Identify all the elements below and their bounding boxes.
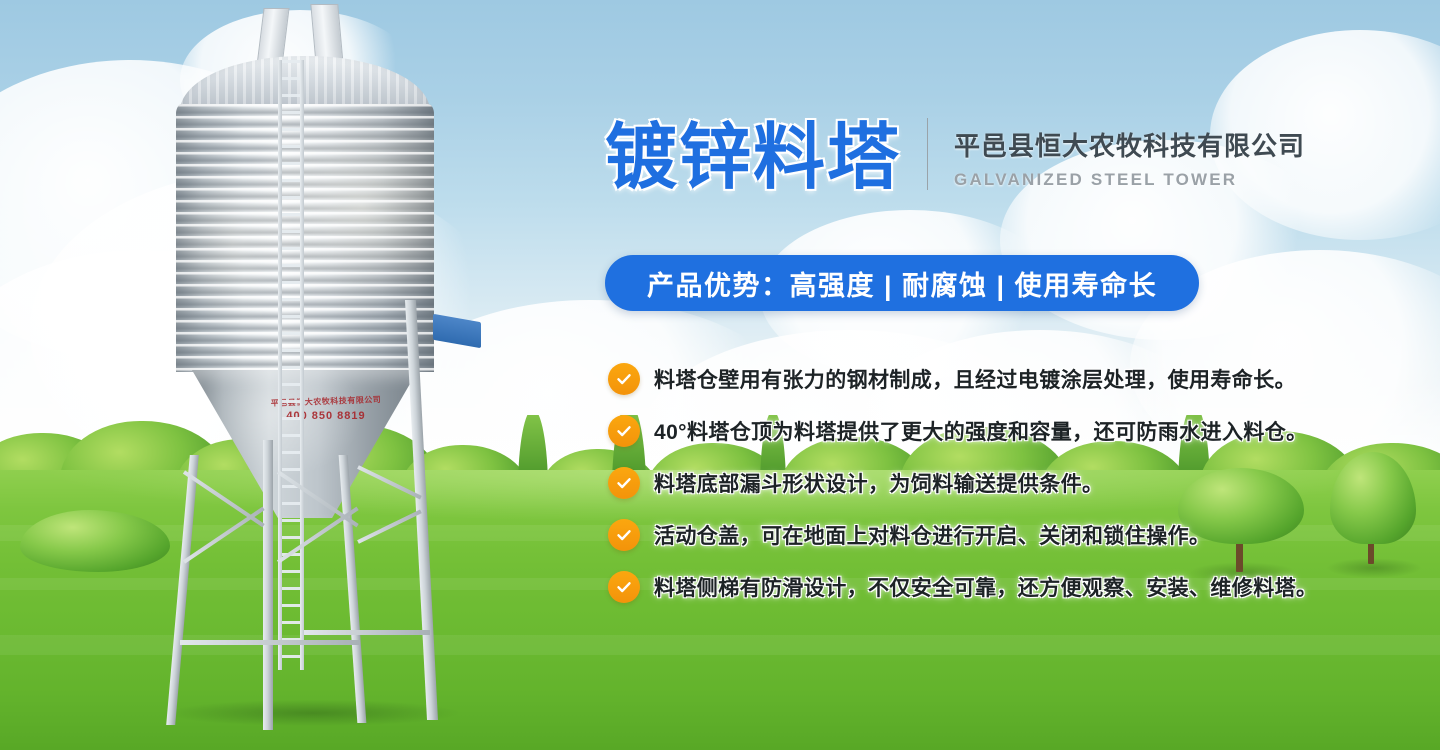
feature-text: 活动仓盖，可在地面上对料仓进行开启、关闭和锁住操作。 bbox=[654, 520, 1210, 550]
feature-list: 料塔仓壁用有张力的钢材制成，且经过电镀涂层处理，使用寿命长。 40°料塔仓顶为料… bbox=[608, 362, 1317, 622]
check-circle-icon bbox=[608, 363, 640, 395]
feature-text: 料塔侧梯有防滑设计，不仅安全可靠，还方便观察、安装、维修料塔。 bbox=[654, 572, 1317, 602]
feature-text: 40°料塔仓顶为料塔提供了更大的强度和容量，还可防雨水进入料仓。 bbox=[654, 416, 1308, 446]
check-circle-icon bbox=[608, 415, 640, 447]
check-circle-icon bbox=[608, 571, 640, 603]
list-item: 活动仓盖，可在地面上对料仓进行开启、关闭和锁住操作。 bbox=[608, 518, 1317, 551]
company-subtitle-en: GALVANIZED STEEL TOWER bbox=[954, 170, 1305, 190]
company-name: 平邑县恒大农牧科技有限公司 bbox=[954, 131, 1305, 162]
list-item: 料塔底部漏斗形状设计，为饲料输送提供条件。 bbox=[608, 466, 1317, 499]
headline-row: 镀锌料塔 平邑县恒大农牧科技有限公司 GALVANIZED STEEL TOWE… bbox=[605, 118, 1305, 194]
feature-text: 料塔底部漏斗形状设计，为饲料输送提供条件。 bbox=[654, 468, 1103, 498]
list-item: 40°料塔仓顶为料塔提供了更大的强度和容量，还可防雨水进入料仓。 bbox=[608, 414, 1317, 447]
advantage-banner-text: 产品优势：高强度 | 耐腐蚀 | 使用寿命长 bbox=[647, 264, 1157, 303]
advantage-banner: 产品优势：高强度 | 耐腐蚀 | 使用寿命长 bbox=[605, 255, 1199, 311]
list-item: 料塔侧梯有防滑设计，不仅安全可靠，还方便观察、安装、维修料塔。 bbox=[608, 570, 1317, 603]
list-item: 料塔仓壁用有张力的钢材制成，且经过电镀涂层处理，使用寿命长。 bbox=[608, 362, 1317, 395]
check-circle-icon bbox=[608, 519, 640, 551]
company-block: 平邑县恒大农牧科技有限公司 GALVANIZED STEEL TOWER bbox=[954, 131, 1305, 194]
title-divider bbox=[927, 118, 928, 190]
page-title: 镀锌料塔 bbox=[605, 122, 901, 194]
check-circle-icon bbox=[608, 467, 640, 499]
promo-banner: 平邑县恒大农牧科技有限公司 400 850 8819 镀锌料塔 平邑县恒大农牧科… bbox=[0, 0, 1440, 750]
banner-content: 镀锌料塔 平邑县恒大农牧科技有限公司 GALVANIZED STEEL TOWE… bbox=[0, 0, 1440, 750]
feature-text: 料塔仓壁用有张力的钢材制成，且经过电镀涂层处理，使用寿命长。 bbox=[654, 364, 1296, 394]
